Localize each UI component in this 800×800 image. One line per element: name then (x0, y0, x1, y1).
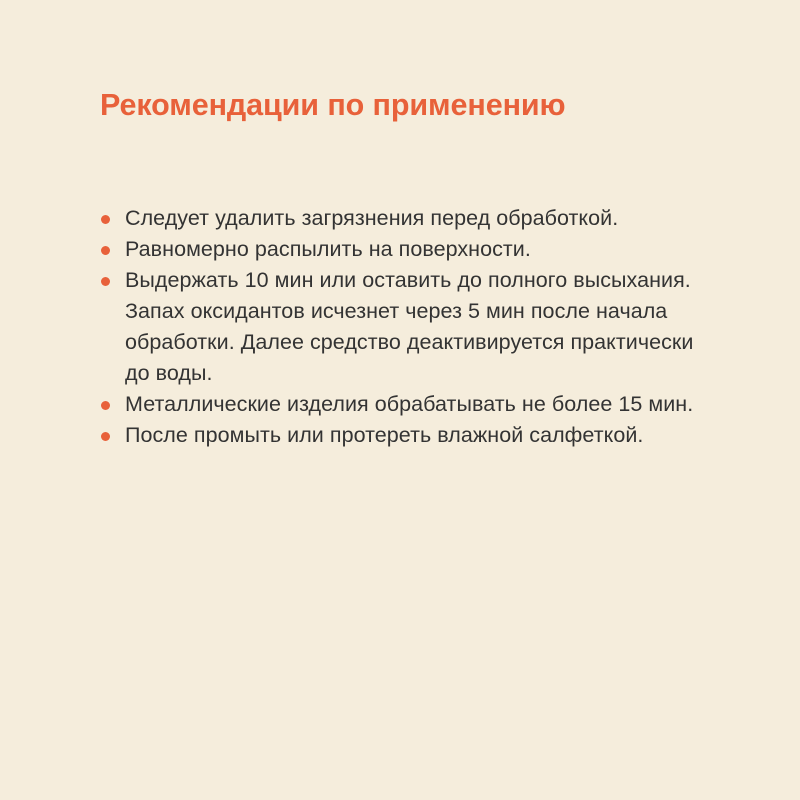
bullet-dot-icon (101, 215, 110, 224)
bullet-dot-icon (101, 246, 110, 255)
list-item-text: Следует удалить загрязнения перед обрабо… (125, 203, 700, 234)
list-item: Выдержать 10 мин или оставить до полного… (100, 265, 700, 389)
list-item-text: После промыть или протереть влажной салф… (125, 420, 700, 451)
recommendations-list: Следует удалить загрязнения перед обрабо… (100, 203, 700, 451)
list-item-text: Выдержать 10 мин или оставить до полного… (125, 265, 700, 389)
page-title: Рекомендации по применению (100, 88, 566, 124)
list-item-text: Равномерно распылить на поверхности. (125, 234, 700, 265)
list-item: Металлические изделия обрабатывать не бо… (100, 389, 700, 420)
bullet-dot-icon (101, 432, 110, 441)
bullet-dot-icon (101, 277, 110, 286)
bullet-dot-icon (101, 401, 110, 410)
recommendations-slide: Рекомендации по применению Следует удали… (0, 0, 800, 800)
list-item-text: Металлические изделия обрабатывать не бо… (125, 389, 700, 420)
list-item: После промыть или протереть влажной салф… (100, 420, 700, 451)
list-item: Следует удалить загрязнения перед обрабо… (100, 203, 700, 234)
list-item: Равномерно распылить на поверхности. (100, 234, 700, 265)
